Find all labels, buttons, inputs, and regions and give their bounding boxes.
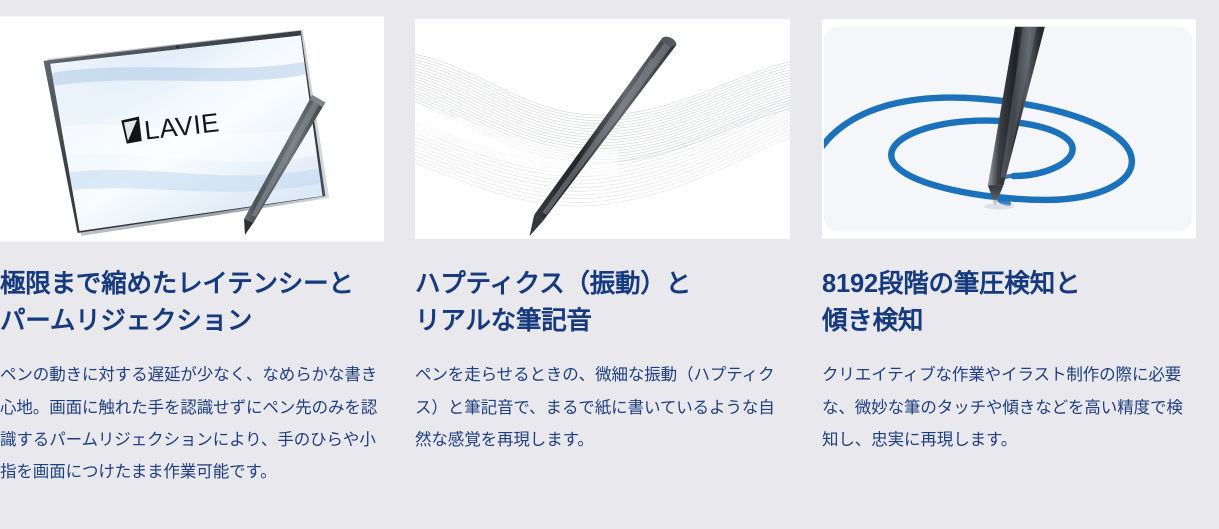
feature-title: 8192段階の筆圧検知と 傾き検知 <box>822 266 1196 339</box>
feature-body: ペンの動きに対する遅延が少なく、なめらかな書き心地。画面に触れた手を認識せずにペ… <box>0 359 384 488</box>
feature-column-pressure: 8192段階の筆圧検知と 傾き検知 クリエイティブな作業やイラスト制作の際に必要… <box>812 10 1218 529</box>
tablet-illustration: LAVIE <box>0 10 384 248</box>
feature-grid: LAVIE 極限まで縮めたレイテンシーと パームリジェクション ペンの動きに対す… <box>0 0 1219 529</box>
tablet-with-stylus-photo: LAVIE <box>0 10 384 248</box>
feature-column-haptics: ハプティクス（振動）と リアルな筆記音 ペンを走らせるときの、微細な振動（ハプテ… <box>406 10 812 529</box>
feature-title: ハプティクス（振動）と リアルな筆記音 <box>415 266 790 339</box>
stylus-wave-illustration <box>415 10 790 248</box>
stylus-drawing-blue-spiral-photo <box>822 10 1196 248</box>
feature-body: ペンを走らせるときの、微細な振動（ハプティクス）と筆記音で、まるで紙に書いている… <box>415 359 790 456</box>
feature-body: クリエイティブな作業やイラスト制作の際に必要な、微妙な筆のタッチや傾きなどを高い… <box>822 359 1196 456</box>
spiral-illustration <box>822 10 1196 248</box>
feature-title: 極限まで縮めたレイテンシーと パームリジェクション <box>0 266 384 339</box>
feature-column-latency: LAVIE 極限まで縮めたレイテンシーと パームリジェクション ペンの動きに対す… <box>0 10 406 529</box>
stylus-over-wave-lines-photo <box>415 10 790 248</box>
